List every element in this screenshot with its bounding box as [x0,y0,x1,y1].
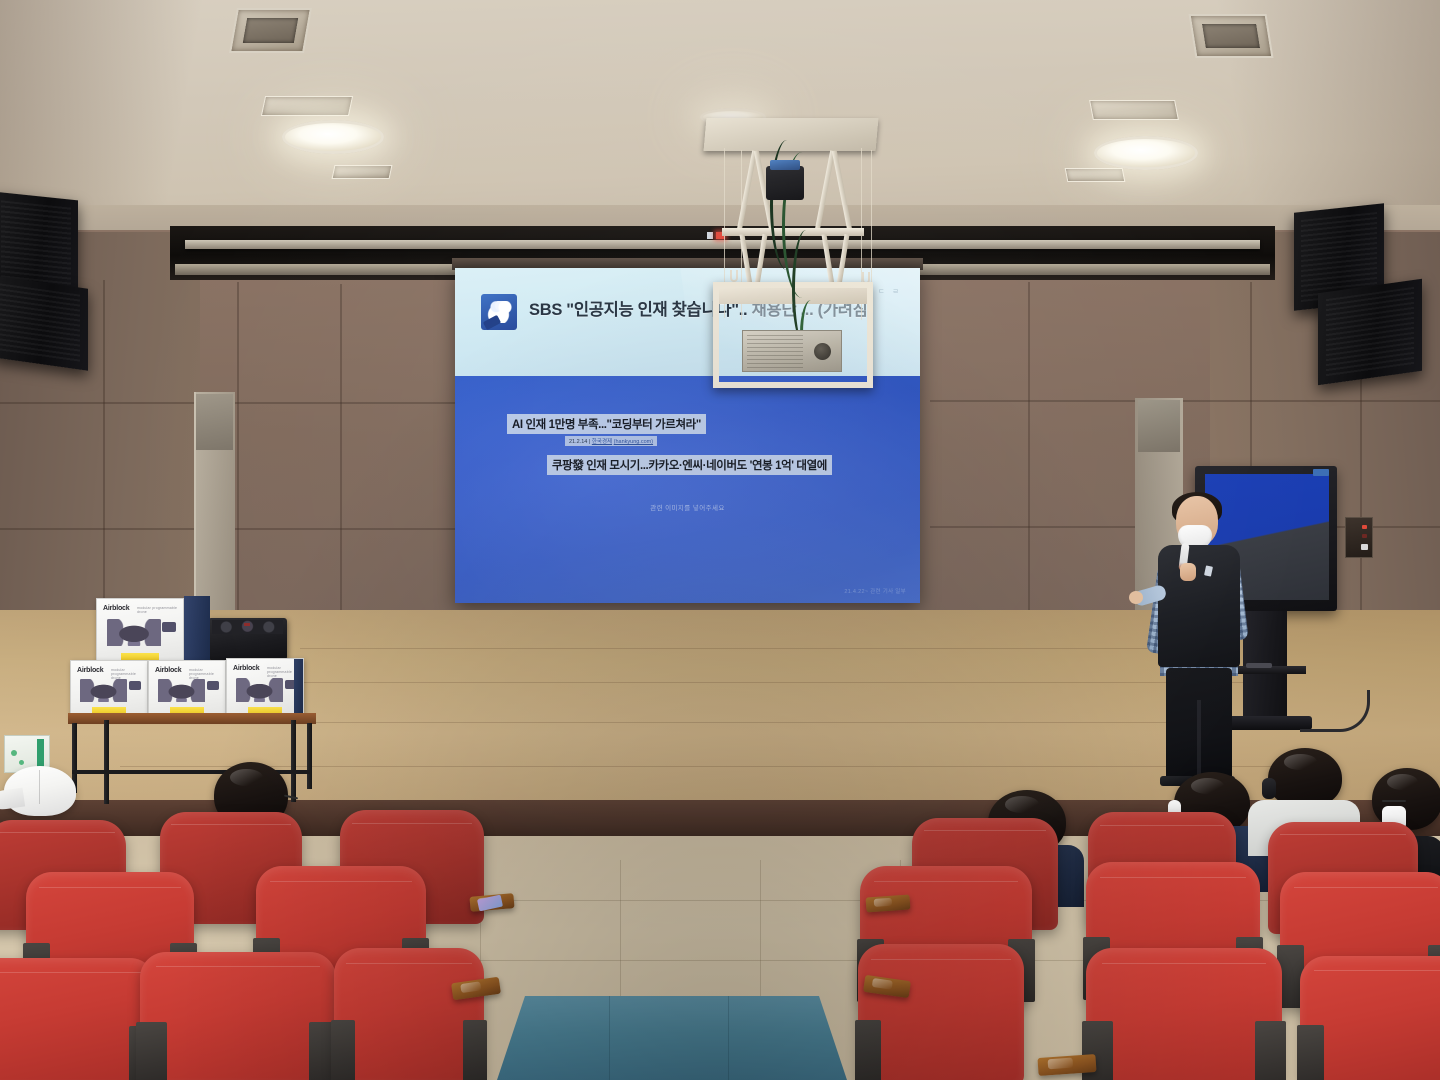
table-leg [291,720,296,802]
drone-illustration [236,678,283,702]
airblock-box-top-side [184,596,210,664]
drone-controller-illustration [129,681,141,690]
airblock-brand-label: Airblock [77,667,103,674]
slide-headline-1: AI 인재 1만명 부족..."코딩부터 가르쳐라" [507,414,706,434]
ceiling-diffuser-2 [332,165,393,179]
seat[interactable] [0,958,156,1080]
seat[interactable] [140,952,336,1080]
airblock-box-top: Airblock modular programmable drone [96,598,184,664]
person-with-white-cap [4,766,76,816]
seat-side-panel [136,1022,167,1080]
source-url: (hankyung.com) [614,439,653,445]
seat-armrest [866,894,911,912]
tv-brand-logo [1313,469,1329,476]
av-led-red [1362,525,1367,529]
seat-side-panel [855,1020,882,1080]
stage-plank [120,766,1320,767]
projector-mount-bracket [766,166,804,200]
wall-seam [1028,282,1030,650]
slide-headline-2: 쿠팡發 인재 모시기...카카오·엔씨·네이버도 '연봉 1억' 대열에 [547,455,832,475]
airblock-brand-label: Airblock [233,665,259,672]
slide-footer-note: 21.4.22~ 관련 기사 일부 [844,587,906,595]
stage-plank [200,722,1290,723]
stage-plank [300,648,1200,649]
presenter-vest [1158,545,1240,667]
wall-seam [237,282,239,654]
projector-unit [742,330,842,372]
projector-mount-top [770,160,800,170]
person-white-tshirt-standing [1268,748,1342,808]
ceiling-diffuser-1 [261,96,353,116]
airblock-box-row2-3: Airblock modular programmable drone [226,658,304,718]
slide-placeholder-note: 관련 이미지를 넣어주세요 [455,502,920,512]
drone-illustration [158,679,205,703]
airblock-box-row2-1: Airblock modular programmable drone [70,660,148,718]
wall-seam [930,400,1440,402]
lift-hook-left [730,270,738,282]
ceiling-diffuser-3 [1089,100,1179,120]
source-name: 한국경제 [592,439,612,445]
drone-controller-illustration [162,622,176,632]
proscenium-track-rail [185,240,1260,249]
airblock-subtitle: modular programmable drone [137,606,183,614]
seat-side-panel [1255,1021,1286,1080]
ceiling-vent-2 [1189,14,1274,58]
black-carry-case [208,618,287,660]
ceiling-light-right [1094,136,1198,170]
remote-control[interactable] [1246,663,1272,668]
tv-stand-base [1222,716,1312,730]
av-led-white [1361,544,1368,550]
airblock-box-row2-2: Airblock modular programmable drone [148,660,226,718]
av-control-panel[interactable] [1345,517,1373,558]
presenter-hand-right [1180,563,1196,581]
stage-left-door-window [196,394,233,450]
seat-side-panel [463,1020,487,1080]
stage-plank [250,682,1250,683]
drone-illustration [80,679,127,703]
box-dot [19,760,24,765]
av-led-dim [1362,534,1367,538]
seat-side-panel [331,1020,355,1080]
presenter-pants-seam [1197,700,1201,780]
ceiling-vent-1 [229,8,312,53]
box-green-stripe [37,739,44,769]
line-array-speaker-right-lower [1318,279,1422,386]
airblock-brand-label: Airblock [155,667,181,674]
airblock-brand-label: Airblock [103,605,129,612]
projector-vents [747,335,803,369]
seat[interactable] [1086,948,1282,1080]
seat-side-panel [1297,1025,1324,1080]
source-date: 21.2.14 | [569,439,590,445]
hand-click-icon [481,294,517,330]
ceiling-light-left [282,120,384,154]
presenter-hand-left [1129,591,1143,604]
table-leg [307,723,312,789]
seat[interactable] [858,944,1024,1080]
ceiling-diffuser-4 [1065,168,1126,182]
aisle-carpet-runner [497,996,847,1080]
box-dot [11,750,17,756]
box-yellow-label [121,653,159,660]
box-side-face [294,659,303,717]
line-array-speaker-left-lower [0,275,88,370]
seat[interactable] [1300,956,1440,1080]
slide-headline-1-source: 21.2.14 | 한국경제 (hankyung.com) [565,436,657,446]
drone-illustration [107,619,160,646]
table-leg [104,720,109,804]
wall-seam [340,284,342,652]
seat[interactable] [334,948,484,1080]
stage-right-door-window [1138,400,1180,452]
black-face-mask [1262,778,1276,799]
auditorium-photo: SBS "인공지능 인재 찾습니다".. 채용단 ... (가려짐) ᄀ ᄂ ᄃ… [0,0,1440,1080]
proscenium-indicator-plate [707,232,713,239]
drone-controller-illustration [207,681,219,690]
glasses-icon [1382,800,1406,802]
projector-lens-dial [814,343,831,360]
slide-body: AI 인재 1만명 부족..."코딩부터 가르쳐라" 21.2.14 | 한국경… [455,376,920,603]
